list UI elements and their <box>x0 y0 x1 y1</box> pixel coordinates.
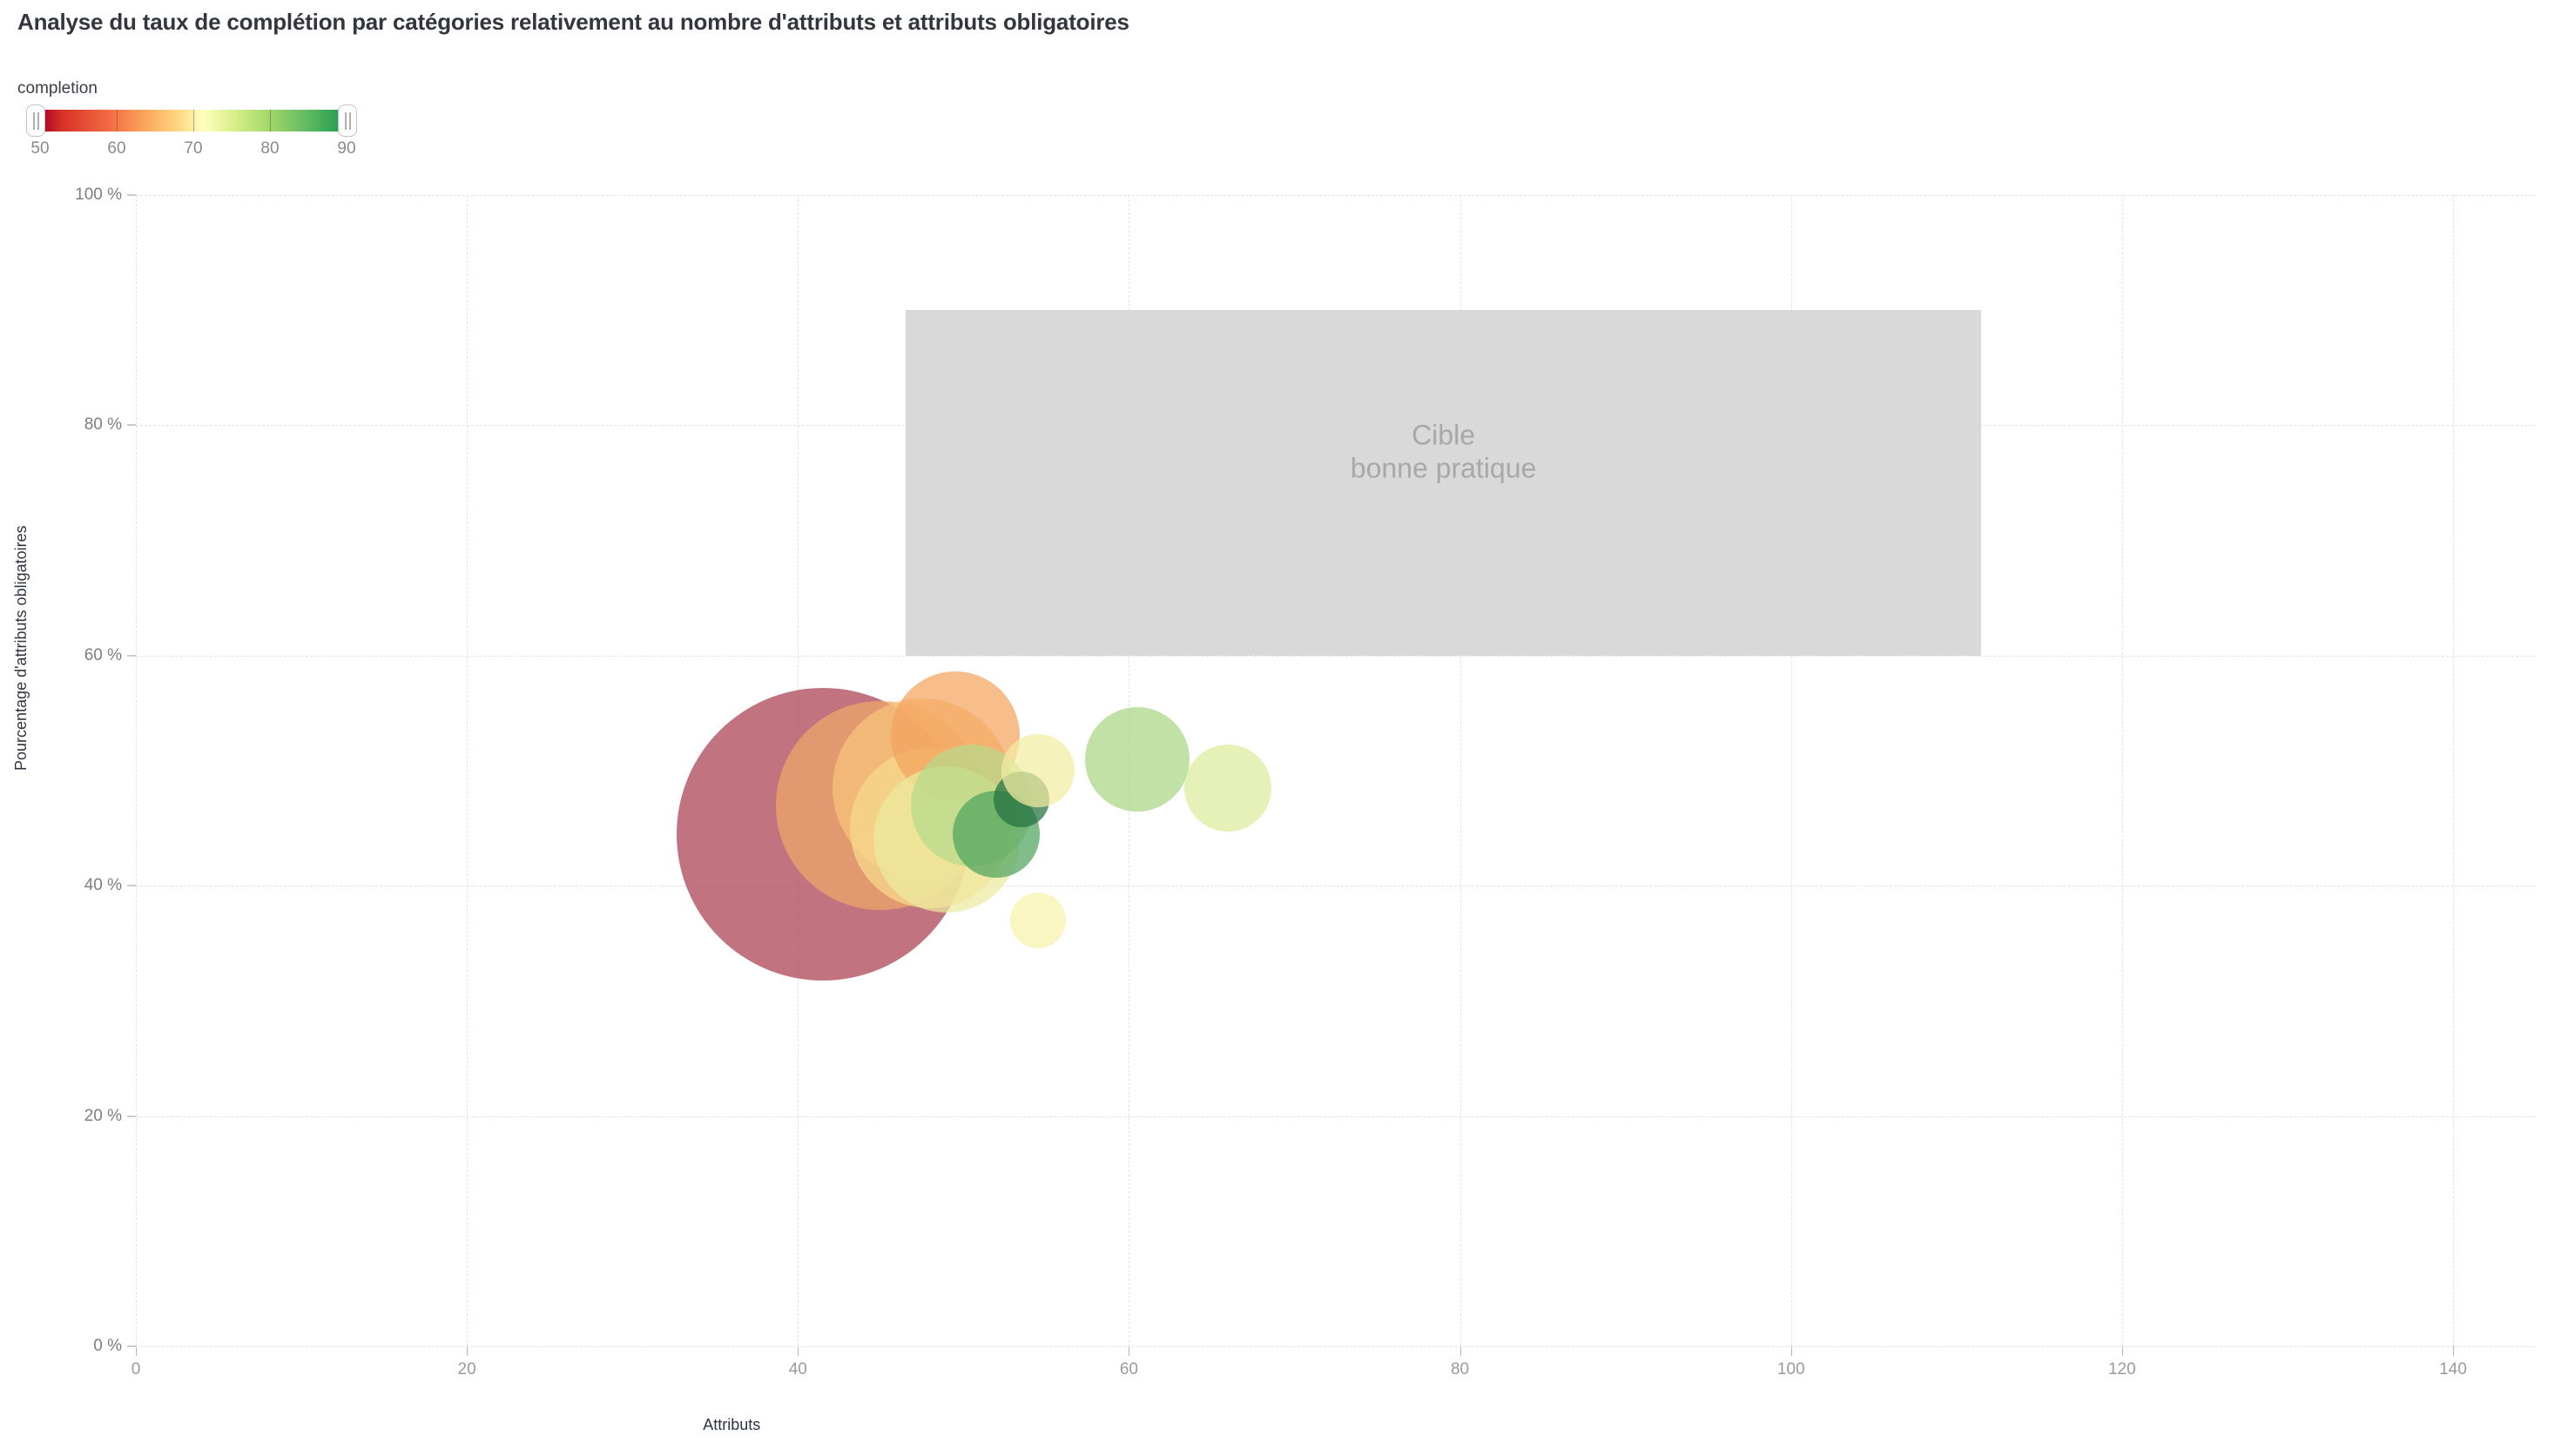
x-tick-mark <box>798 1346 799 1356</box>
bubble-point[interactable] <box>1085 707 1190 812</box>
x-tick-label: 40 <box>789 1360 807 1379</box>
y-tick-label: 60 % <box>84 646 131 665</box>
x-tick-mark <box>1460 1346 1461 1356</box>
gridline-horizontal <box>136 886 2536 886</box>
x-tick-mark <box>2122 1346 2123 1356</box>
x-tick-label: 60 <box>1120 1360 1138 1379</box>
gridline-vertical <box>2122 195 2123 1346</box>
gridline-horizontal <box>136 195 2536 196</box>
x-tick-label: 80 <box>1451 1360 1469 1379</box>
y-tick-label: 20 % <box>84 1107 131 1126</box>
x-axis-title: Attributs <box>703 1416 760 1434</box>
scatter-plot: 0 %20 %40 %60 %80 %100 % 020406080100120… <box>0 0 2555 1456</box>
y-tick-mark <box>127 1116 136 1116</box>
gridline-horizontal <box>136 1116 2536 1117</box>
y-tick-mark <box>127 1346 136 1347</box>
x-tick-mark <box>467 1346 468 1356</box>
y-tick-label: 0 % <box>93 1337 131 1356</box>
x-tick-label: 140 <box>2439 1360 2467 1379</box>
x-tick-mark <box>136 1346 137 1356</box>
y-tick-mark <box>127 425 136 426</box>
x-tick-label: 20 <box>458 1360 476 1379</box>
x-tick-mark <box>1129 1346 1129 1356</box>
y-tick-label: 80 % <box>84 415 131 435</box>
x-tick-label: 120 <box>2108 1360 2136 1379</box>
y-tick-mark <box>127 886 136 886</box>
gridline-vertical <box>2453 195 2454 1346</box>
y-tick-label: 100 % <box>75 185 131 205</box>
y-tick-mark <box>127 195 136 196</box>
x-tick-mark <box>1791 1346 1792 1356</box>
x-tick-label: 0 <box>131 1360 141 1379</box>
plot-area: Cible bonne pratique <box>136 195 2536 1346</box>
y-axis-title: Pourcentage d'attributs obligatoires <box>12 525 30 771</box>
gridline-horizontal <box>136 656 2536 657</box>
bubble-point[interactable] <box>1010 893 1066 948</box>
target-band <box>906 310 1981 656</box>
x-tick-mark <box>2453 1346 2454 1356</box>
y-tick-mark <box>127 655 136 656</box>
gridline-vertical <box>136 195 137 1346</box>
gridline-horizontal <box>136 1346 2536 1347</box>
bubble-point[interactable] <box>1184 745 1271 832</box>
bubble-point[interactable] <box>1001 734 1075 807</box>
y-tick-label: 40 % <box>84 876 131 895</box>
x-tick-label: 100 <box>1777 1360 1805 1379</box>
gridline-vertical <box>467 195 468 1346</box>
